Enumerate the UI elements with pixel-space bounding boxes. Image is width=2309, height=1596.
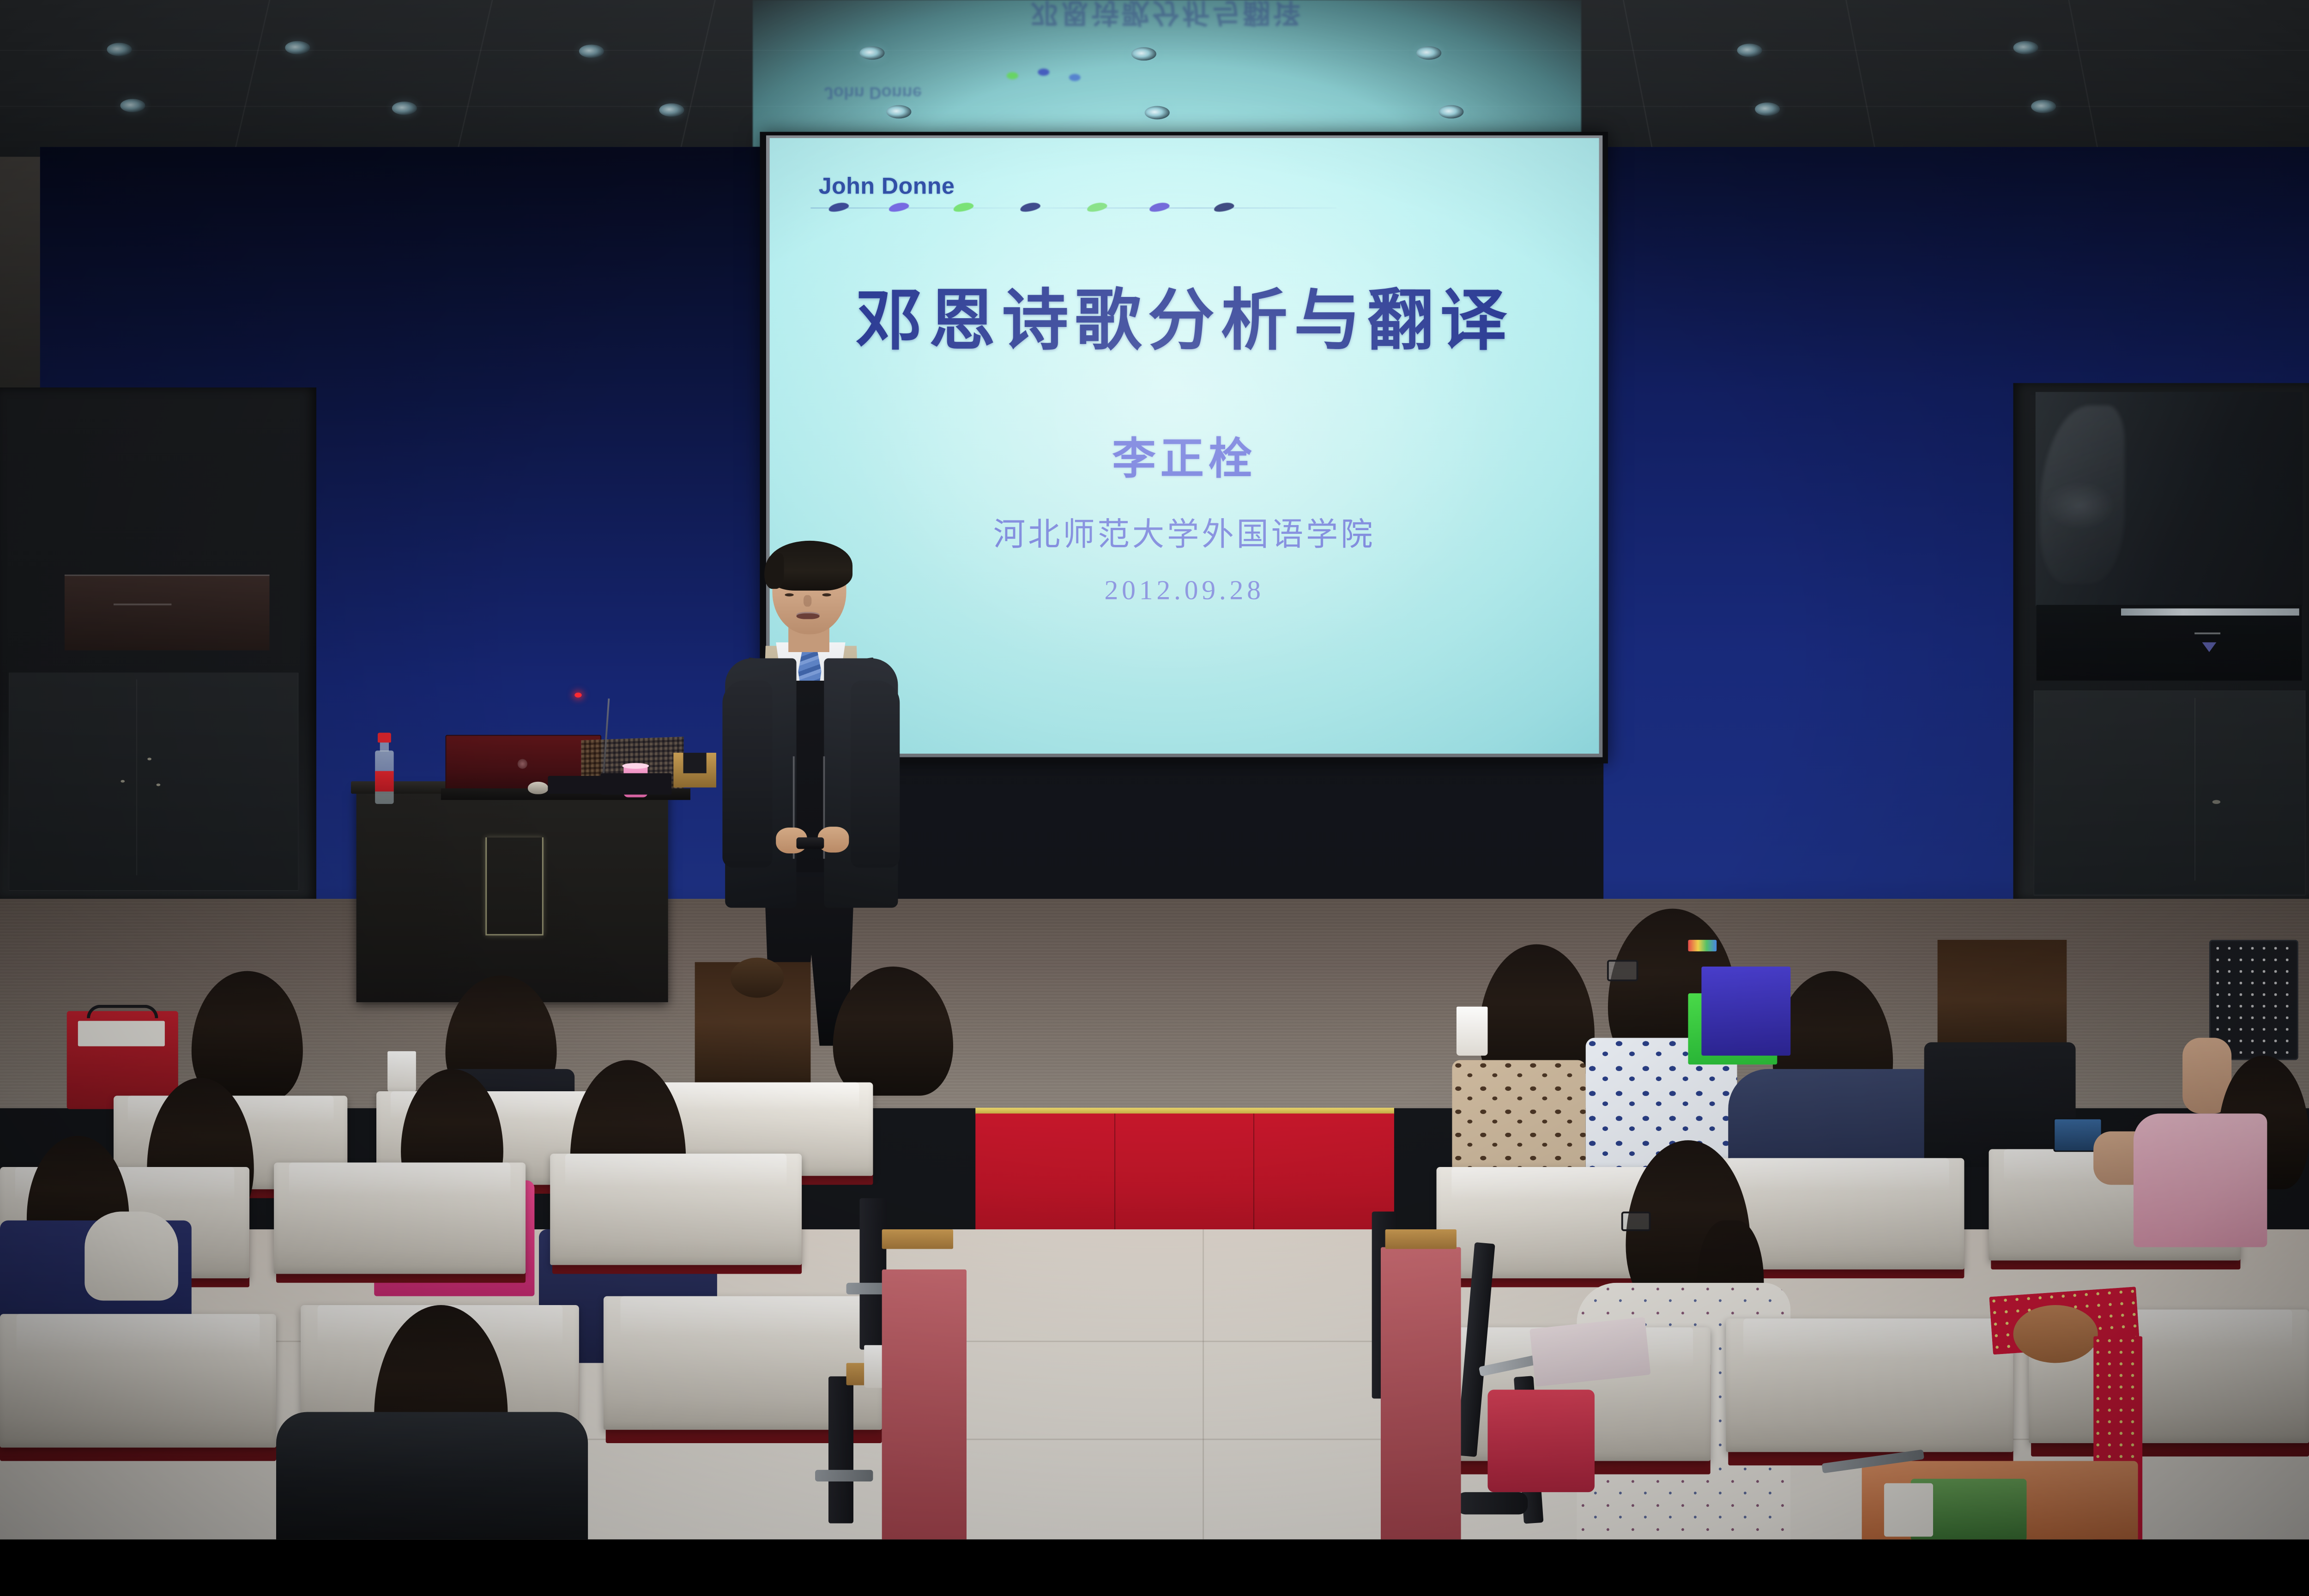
white-paper-cup [387,1051,416,1092]
slide-decor-band [810,200,1336,216]
reflected-slide-kicker: John Donne [824,83,922,102]
presenter-right-arm [851,681,900,868]
baby-stroller [1439,1243,1626,1539]
stage-apron [975,1113,1394,1247]
white-paper-cup [1457,1007,1488,1056]
cabinet-glass-door [2036,392,2303,606]
laptop-logo-icon [518,759,527,769]
seat[interactable] [1726,1318,2013,1452]
presenter-podium [357,788,668,1002]
slide-kicker-john-donne: John Donne [819,173,955,199]
reflected-slide-title: 邓恩诗歌分析与翻译 [753,0,1581,36]
cabinet-base [9,672,298,891]
indicator-led [574,693,581,698]
hair-clip [1688,940,1717,951]
presenter-left-arm [722,681,772,868]
seat-writing-tablet [882,1229,953,1249]
water-bottle [374,733,394,804]
slide-title: 邓恩诗歌分析与翻译 [770,266,1599,363]
podium-light-leak [485,837,543,935]
white-paper [1884,1483,1933,1537]
seat-frame [828,1376,853,1523]
red-backpack [67,1011,178,1109]
seat[interactable] [550,1154,802,1265]
fur-collar [85,1211,178,1300]
lecture-hall-photo: 邓恩诗歌分析与翻译 John Donne [0,0,2309,1539]
ceiling-screen-reflection: 邓恩诗歌分析与翻译 John Donne [753,0,1581,147]
black-puffer-jacket [276,1412,588,1539]
seat-armrest [815,1470,873,1481]
reflected-decor-band [1002,67,1145,94]
eyeglasses [1621,1211,1651,1231]
presentation-clicker [797,837,824,849]
right-speaker-cabinet [2013,383,2309,900]
cabinet-logo-icon [2202,642,2217,652]
left-speaker-cabinet [0,387,316,900]
cabinet-control-band [2037,605,2302,681]
presenter-hair [767,541,852,591]
eyeglasses [1607,960,1638,981]
slide-author: 李正栓 [770,423,1599,486]
seat[interactable] [274,1162,526,1274]
cabinet-base [2034,690,2305,895]
desk-equipment-2 [600,773,671,794]
presenter-mouth [797,612,820,619]
seat-writing-tablet [1385,1229,1457,1249]
plush-toy [2013,1305,2098,1363]
desk-equipment [548,776,601,794]
blue-paper-bag [1701,967,1790,1056]
hair-bun [731,958,784,998]
cabinet-panel [65,574,270,650]
computer-mouse [528,782,548,794]
seat[interactable] [0,1314,276,1447]
pink-hoodie [2134,1113,2267,1247]
